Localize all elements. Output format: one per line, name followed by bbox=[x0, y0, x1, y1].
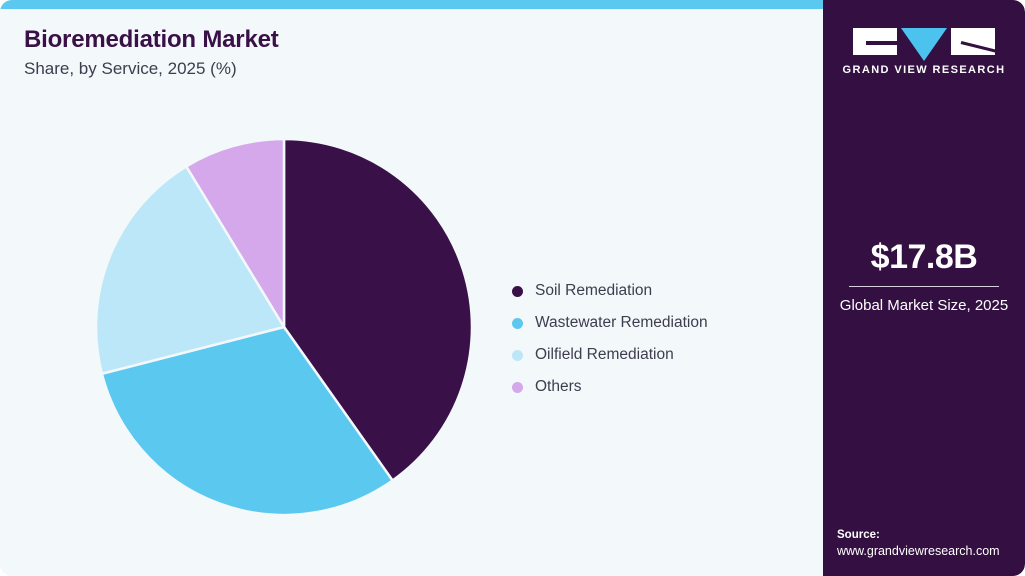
stat-caption: Global Market Size, 2025 bbox=[823, 295, 1025, 316]
logo-marks bbox=[823, 28, 1025, 55]
source-url[interactable]: www.grandviewresearch.com bbox=[837, 543, 1025, 560]
source-label: Source: bbox=[837, 527, 1025, 543]
legend-item[interactable]: Oilfield Remediation bbox=[512, 339, 792, 371]
pie-chart bbox=[96, 139, 472, 515]
logo-wordmark: GRAND VIEW RESEARCH bbox=[823, 64, 1025, 76]
page-title: Bioremediation Market bbox=[24, 26, 279, 54]
logo-v-triangle-icon bbox=[901, 28, 947, 61]
chart-legend: Soil RemediationWastewater RemediationOi… bbox=[512, 275, 792, 403]
legend-color-dot-icon bbox=[512, 318, 523, 329]
main-panel: Bioremediation Market Share, by Service,… bbox=[0, 9, 823, 576]
legend-item-label: Soil Remediation bbox=[535, 282, 652, 300]
logo-r-icon bbox=[951, 28, 995, 55]
stat-block: $17.8B Global Market Size, 2025 bbox=[823, 238, 1025, 316]
legend-item-label: Oilfield Remediation bbox=[535, 346, 674, 364]
pie-slice-group bbox=[96, 139, 472, 515]
top-accent-bar bbox=[0, 0, 823, 9]
brand-logo: GRAND VIEW RESEARCH bbox=[823, 28, 1025, 76]
side-panel: GRAND VIEW RESEARCH $17.8B Global Market… bbox=[823, 0, 1025, 576]
stat-value: $17.8B bbox=[823, 238, 1025, 277]
source-block: Source: www.grandviewresearch.com bbox=[837, 527, 1025, 560]
legend-item-label: Others bbox=[535, 378, 582, 396]
legend-item[interactable]: Soil Remediation bbox=[512, 275, 792, 307]
pie-chart-svg bbox=[96, 139, 472, 515]
legend-item[interactable]: Others bbox=[512, 371, 792, 403]
chart-card: Bioremediation Market Share, by Service,… bbox=[0, 0, 1025, 576]
logo-g-icon bbox=[853, 28, 897, 55]
legend-item[interactable]: Wastewater Remediation bbox=[512, 307, 792, 339]
legend-color-dot-icon bbox=[512, 382, 523, 393]
legend-color-dot-icon bbox=[512, 286, 523, 297]
stat-divider bbox=[849, 286, 999, 287]
page-subtitle: Share, by Service, 2025 (%) bbox=[24, 59, 237, 79]
legend-item-label: Wastewater Remediation bbox=[535, 314, 708, 332]
legend-color-dot-icon bbox=[512, 350, 523, 361]
